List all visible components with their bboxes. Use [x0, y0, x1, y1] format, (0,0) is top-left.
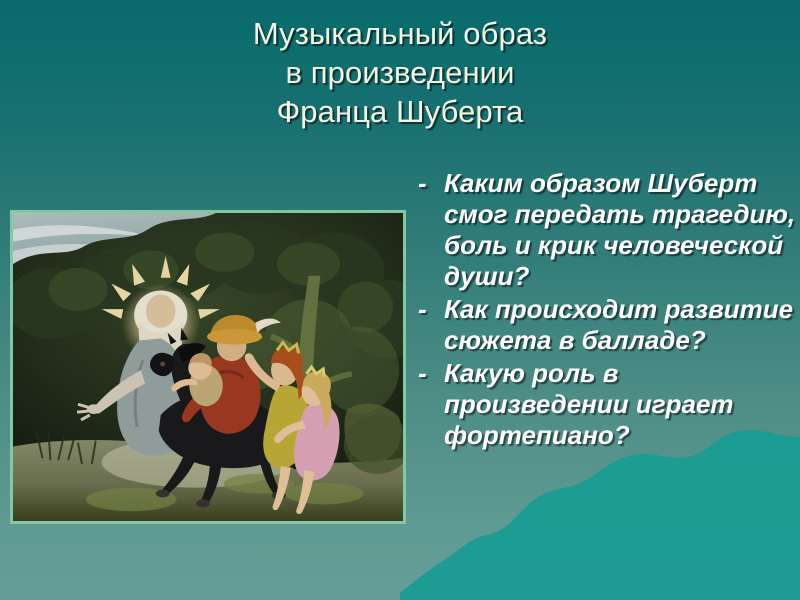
list-item-label: Какую роль в произведении играет фортепи… — [444, 358, 796, 451]
list-item: - Какую роль в произведении играет форте… — [418, 358, 796, 451]
bullet-dash-icon: - — [418, 294, 444, 325]
list-item-label: Как происходит развитие сюжета в балладе… — [444, 294, 796, 356]
list-item: - Как происходит развитие сюжета в балла… — [418, 294, 796, 356]
slide-title: Музыкальный образ в произведении Франца … — [0, 14, 800, 131]
bullet-dash-icon: - — [418, 358, 444, 389]
bullet-dash-icon: - — [418, 168, 444, 199]
list-item: - Каким образом Шуберт смог передать тра… — [418, 168, 796, 292]
question-list: - Каким образом Шуберт смог передать тра… — [418, 168, 796, 453]
list-item-label: Каким образом Шуберт смог передать траге… — [444, 168, 796, 292]
presentation-slide: Музыкальный образ в произведении Франца … — [0, 0, 800, 600]
erlkonig-painting — [10, 210, 406, 524]
